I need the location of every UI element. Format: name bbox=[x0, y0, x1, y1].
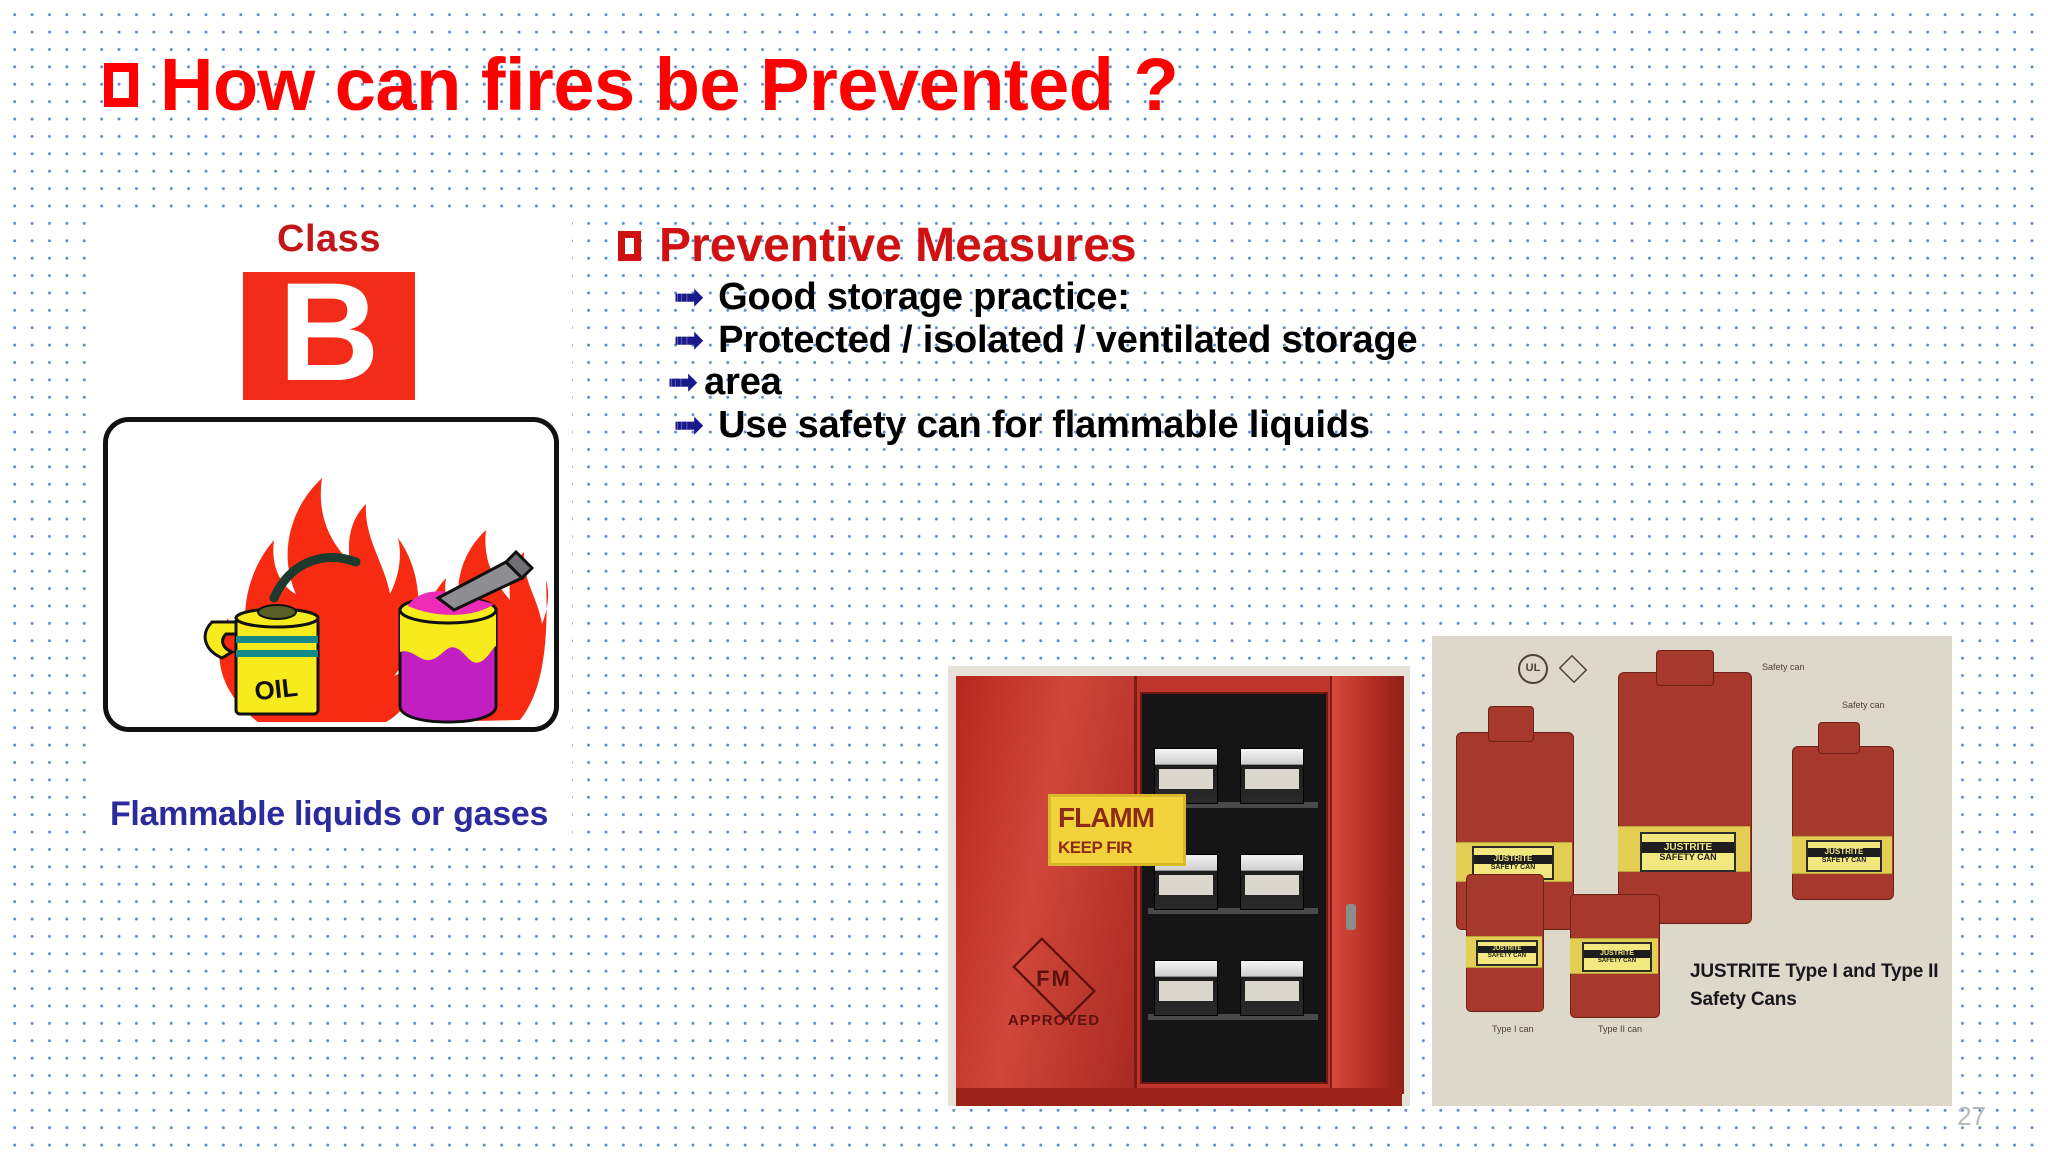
preventive-measures-heading: Preventive Measures bbox=[659, 222, 1137, 270]
justrite-plate: JUSTRITE SAFETY CAN bbox=[1476, 940, 1538, 966]
fire-clipart-frame: OIL bbox=[103, 417, 559, 732]
justrite-caption-line1: JUSTRITE Type I and Type II bbox=[1690, 958, 1940, 986]
fm-approved-mark: FM APPROVED bbox=[994, 944, 1114, 1036]
class-letter-badge: B bbox=[243, 272, 415, 400]
plate-brand: JUSTRITE bbox=[1642, 842, 1734, 853]
justrite-safety-cans-photo: UL JUSTRITE SAFETY CAN JUSTRITE SAFETY C… bbox=[1432, 636, 1952, 1106]
hollow-square-bullet-icon bbox=[618, 231, 641, 261]
list-item: ➟ Protected / isolated / ventilated stor… bbox=[674, 319, 1998, 362]
justrite-caption-line2: Safety Cans bbox=[1690, 986, 1940, 1014]
arrow-head-bullet-icon: ➟ bbox=[668, 364, 698, 400]
cabinet-interior bbox=[1140, 692, 1328, 1084]
list-item: ➟ area bbox=[668, 361, 1998, 404]
photo-note: Type II can bbox=[1598, 1024, 1642, 1034]
photo-note: Type I can bbox=[1492, 1024, 1534, 1034]
fm-approved-text: APPROVED bbox=[1008, 1012, 1100, 1029]
safety-can-large bbox=[1618, 672, 1752, 924]
preventive-measures-block: Preventive Measures ➟ Good storage pract… bbox=[618, 222, 1998, 446]
paint-can bbox=[1154, 960, 1218, 1016]
list-item-label: Protected / isolated / ventilated storag… bbox=[718, 319, 1417, 362]
list-item-label: Good storage practice: bbox=[718, 276, 1130, 319]
plate-sub: SAFETY CAN bbox=[1659, 853, 1716, 863]
justrite-plate: JUSTRITE SAFETY CAN bbox=[1806, 840, 1882, 872]
flammable-warning-label: FLAMM KEEP FIR bbox=[1048, 794, 1186, 866]
plate-brand: JUSTRITE bbox=[1474, 855, 1552, 864]
svg-text:OIL: OIL bbox=[253, 672, 299, 706]
photo-note: Safety can bbox=[1842, 700, 1885, 710]
safety-can-spout bbox=[1488, 706, 1534, 742]
fm-mark-text: FM bbox=[1036, 966, 1072, 992]
page-number: 27 bbox=[1957, 1101, 1986, 1132]
flammable-liquids-fire-icon: OIL bbox=[108, 422, 554, 727]
plate-sub: SAFETY CAN bbox=[1822, 857, 1867, 865]
safety-can-spout bbox=[1818, 722, 1860, 754]
list-item: ➟ Use safety can for flammable liquids bbox=[674, 404, 1998, 447]
slide-title-row: How can fires be Prevented ? bbox=[104, 48, 1178, 122]
plate-sub: SAFETY CAN bbox=[1598, 958, 1636, 965]
class-b-illustration-panel: Class B OIL bbox=[86, 212, 572, 844]
list-item: ➟ Good storage practice: bbox=[674, 276, 1998, 319]
safety-can-spout bbox=[1656, 650, 1714, 686]
paint-can bbox=[1240, 854, 1304, 910]
photo-note: Safety can bbox=[1762, 662, 1805, 672]
plate-sub: SAFETY CAN bbox=[1491, 864, 1536, 872]
cabinet-door-handle-icon bbox=[1346, 904, 1356, 930]
fm-diamond-icon: FM bbox=[1012, 937, 1096, 1021]
plate-sub: SAFETY CAN bbox=[1488, 953, 1526, 960]
arrow-head-bullet-icon: ➟ bbox=[674, 279, 704, 315]
flammable-label-line1: FLAMM bbox=[1051, 797, 1183, 832]
fm-diamond-icon bbox=[1559, 655, 1588, 684]
safety-can-right bbox=[1792, 746, 1894, 900]
plate-brand: JUSTRITE bbox=[1808, 848, 1880, 857]
plate-brand: JUSTRITE bbox=[1478, 946, 1536, 953]
flammable-label-line2: KEEP FIR bbox=[1051, 832, 1183, 856]
hollow-square-bullet-icon bbox=[104, 63, 138, 107]
class-letter: B bbox=[278, 262, 379, 402]
class-b-caption: Flammable liquids or gases bbox=[86, 795, 572, 834]
plate-brand: JUSTRITE bbox=[1584, 950, 1650, 958]
cabinet-left-door: FLAMM KEEP FIR FM APPROVED bbox=[956, 676, 1137, 1094]
list-item-label: area bbox=[704, 361, 781, 404]
ul-listed-icon: UL bbox=[1518, 654, 1548, 684]
page-title: How can fires be Prevented ? bbox=[160, 48, 1178, 122]
cabinet-base bbox=[956, 1088, 1402, 1106]
justrite-plate: JUSTRITE SAFETY CAN bbox=[1582, 942, 1652, 972]
paint-can bbox=[1240, 960, 1304, 1016]
arrow-head-bullet-icon: ➟ bbox=[674, 322, 704, 358]
preventive-measures-heading-row: Preventive Measures bbox=[618, 222, 1998, 270]
flammable-storage-cabinet-photo: FLAMM KEEP FIR FM APPROVED bbox=[948, 666, 1410, 1106]
paint-can bbox=[1240, 748, 1304, 804]
justrite-plate: JUSTRITE SAFETY CAN bbox=[1640, 832, 1736, 872]
list-item-label: Use safety can for flammable liquids bbox=[718, 404, 1370, 447]
arrow-head-bullet-icon: ➟ bbox=[674, 407, 704, 443]
cabinet-right-door bbox=[1330, 676, 1404, 1094]
justrite-caption: JUSTRITE Type I and Type II Safety Cans bbox=[1690, 958, 1940, 1013]
